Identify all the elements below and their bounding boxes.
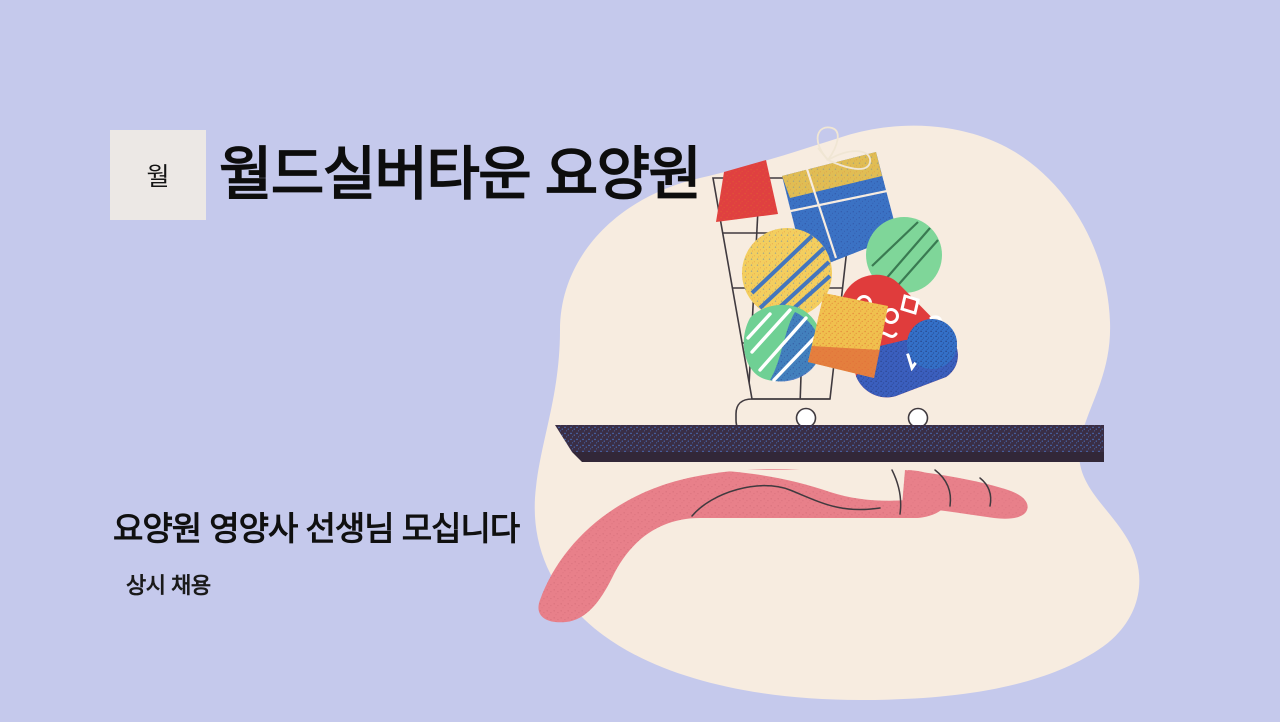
- company-title: 월드실버타운 요양원: [219, 146, 700, 204]
- month-badge: 월: [110, 130, 206, 220]
- job-title: 요양원 영양사 선생님 모십니다: [113, 508, 519, 549]
- employment-type: 상시 채용: [126, 572, 211, 600]
- text-layer: 월 월드실버타운 요양원 요양원 영양사 선생님 모십니다 상시 채용: [0, 0, 1280, 722]
- header-row: 월 월드실버타운 요양원: [110, 130, 700, 220]
- job-poster: 월 월드실버타운 요양원 요양원 영양사 선생님 모십니다 상시 채용: [0, 0, 1280, 722]
